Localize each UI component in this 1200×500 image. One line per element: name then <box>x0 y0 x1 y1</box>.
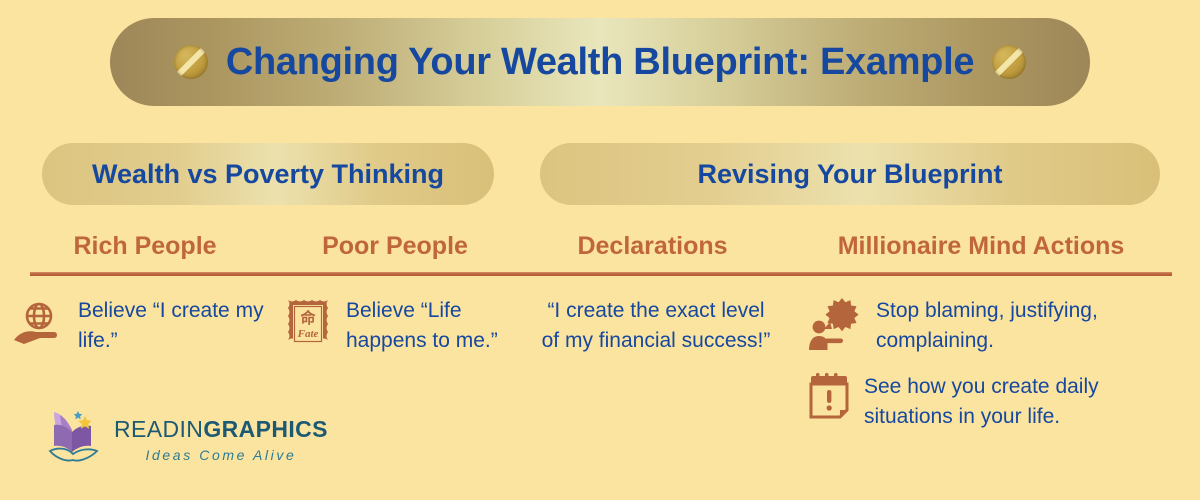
person-blaming-icon <box>806 296 864 357</box>
logo-wordmark-bold: GRAPHICS <box>203 416 328 442</box>
column-header-poor-people: Poor People <box>285 232 505 261</box>
cell-rich-people: Believe “I create my life.” <box>10 296 272 357</box>
cell-text: Believe “Life happens to me.” <box>346 296 532 357</box>
section-header-wealth-vs-poverty: Wealth vs Poverty Thinking <box>42 143 494 205</box>
column-header-rich-people: Rich People <box>30 232 260 261</box>
logo-tagline: Ideas Come Alive <box>114 448 328 462</box>
notepad-exclamation-icon <box>806 372 852 427</box>
title-banner: Changing Your Wealth Blueprint: Example <box>110 18 1090 106</box>
section-title: Wealth vs Poverty Thinking <box>92 159 444 190</box>
cell-action-1: Stop blaming, justifying, complaining. <box>806 296 1184 357</box>
fate-frame-icon: 命 Fate <box>282 296 334 357</box>
cell-poor-people: 命 Fate Believe “Life happens to me.” <box>282 296 532 357</box>
logo-wordmark-light: READIN <box>114 416 203 442</box>
logo-wordmark: READINGRAPHICS <box>114 418 328 441</box>
cell-declarations: “I create the exact level of my financia… <box>540 296 772 357</box>
page-title: Changing Your Wealth Blueprint: Example <box>226 41 974 84</box>
hand-holding-globe-icon <box>10 296 66 357</box>
cell-action-2: See how you create daily situations in y… <box>806 372 1184 433</box>
section-header-revising-blueprint: Revising Your Blueprint <box>540 143 1160 205</box>
header-divider <box>30 272 1172 276</box>
svg-text:Fate: Fate <box>297 328 319 340</box>
section-title: Revising Your Blueprint <box>697 159 1002 190</box>
column-header-declarations: Declarations <box>540 232 765 261</box>
screw-icon <box>992 45 1026 79</box>
svg-text:命: 命 <box>299 309 316 327</box>
cell-text: Stop blaming, justifying, complaining. <box>876 296 1184 357</box>
open-book-stars-icon <box>42 408 104 471</box>
cell-text: See how you create daily situations in y… <box>864 372 1184 433</box>
screw-icon <box>174 45 208 79</box>
column-header-millionaire-mind-actions: Millionaire Mind Actions <box>790 232 1172 261</box>
cell-text: Believe “I create my life.” <box>78 296 272 357</box>
readingraphics-logo: READINGRAPHICS Ideas Come Alive <box>42 408 328 471</box>
